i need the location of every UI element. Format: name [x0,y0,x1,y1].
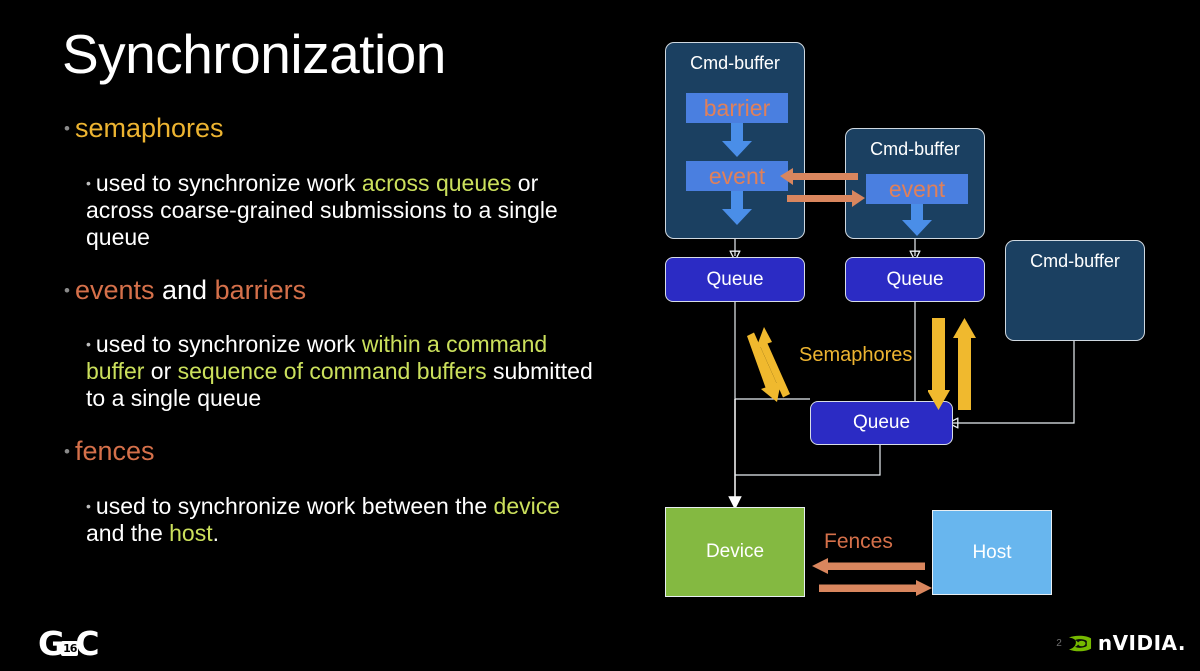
semaphores-label: Semaphores [799,344,912,367]
cmdbuffer-box-3[interactable]: Cmd-buffer [1005,240,1145,341]
bullet-marker: • [64,442,70,461]
bullet-fences: •fences [64,436,155,467]
cmdbuffer-box-2[interactable]: Cmd-buffer event [845,128,985,239]
slide-footer: G16C 2 nVIDIA. [0,620,1200,671]
text-run: fences [75,436,155,466]
bullet-text: events and barriers [75,275,306,305]
bullet-semaphores: •semaphores [64,113,224,144]
text-run: events [75,275,155,305]
queue-box-2[interactable]: Queue [845,257,985,302]
queue-label: Queue [853,412,910,434]
nvidia-logo: 2 nVIDIA. [1056,631,1186,655]
event-stage-1[interactable]: event [686,161,788,191]
text-run: device [494,493,560,519]
cmdbuffer-label: Cmd-buffer [846,139,984,160]
barrier-stage[interactable]: barrier [686,93,788,123]
bullet-text: semaphores [75,113,224,143]
nvidia-eye-icon [1067,635,1093,652]
text-run: sequence of command buffers [178,358,487,384]
queue-box-1[interactable]: Queue [665,257,805,302]
bullet-marker: • [64,119,70,138]
cmdbuffer-label: Cmd-buffer [666,53,804,74]
text-run: semaphores [75,113,224,143]
bullet-fences-detail: •used to synchronize work between the de… [86,493,566,547]
bullet-text: used to synchronize work across queues o… [86,170,558,250]
down-arrow-icon [718,191,756,227]
bullet-events-and-barriers: •events and barriers [64,275,306,306]
semaphore-arrows-left [745,322,835,412]
nvidia-wordmark: nVIDIA. [1098,631,1186,655]
event-sync-arrows [780,168,865,208]
host-box[interactable]: Host [932,510,1052,595]
bullet-events-detail: •used to synchronize work within a comma… [86,331,596,412]
text-run: and the [86,520,169,546]
event-stage-2[interactable]: event [866,174,968,204]
bullet-semaphores-detail: •used to synchronize work across queues … [86,170,586,251]
cmdbuffer-label: Cmd-buffer [1006,251,1144,272]
bullet-text: used to synchronize work within a comman… [86,331,593,411]
down-arrow-icon [898,204,936,238]
host-label: Host [972,542,1011,564]
text-run: . [213,520,219,546]
slide-root: Synchronization •semaphores •used to syn… [0,0,1200,671]
text-run: and [155,275,215,305]
device-box[interactable]: Device [665,507,805,597]
text-run: used to synchronize work [96,170,362,196]
text-run: or [144,358,177,384]
event-label: event [889,178,945,201]
bullet-marker: • [86,336,91,352]
bullet-text: used to synchronize work between the dev… [86,493,560,546]
barrier-label: barrier [704,97,770,120]
gdc-year: 16 [61,641,78,656]
cmdbuffer-box-1[interactable]: Cmd-buffer barrier event [665,42,805,239]
nvidia-prefix: 2 [1056,638,1062,649]
fences-label: Fences [824,530,893,554]
gdc-logo: G16C [38,624,99,663]
bullet-marker: • [86,175,91,191]
queue-label: Queue [886,269,943,291]
bullet-marker: • [86,498,91,514]
bullet-text: fences [75,436,155,466]
event-label: event [709,165,765,188]
bullet-marker: • [64,281,70,300]
queue-label: Queue [706,269,763,291]
text-run: used to synchronize work between the [96,493,494,519]
text-run: across queues [362,170,512,196]
synchronization-diagram: Cmd-buffer barrier event Cmd-buffer even… [640,0,1200,620]
device-label: Device [706,541,764,563]
fence-arrows [812,557,932,597]
semaphore-arrows-right [928,318,978,413]
gdc-c: C [75,624,98,663]
content-column: Synchronization •semaphores •used to syn… [0,0,640,620]
down-arrow-icon [718,123,756,159]
text-run: barriers [215,275,307,305]
page-title: Synchronization [62,22,446,86]
text-run: host [169,520,212,546]
text-run: used to synchronize work [96,331,362,357]
